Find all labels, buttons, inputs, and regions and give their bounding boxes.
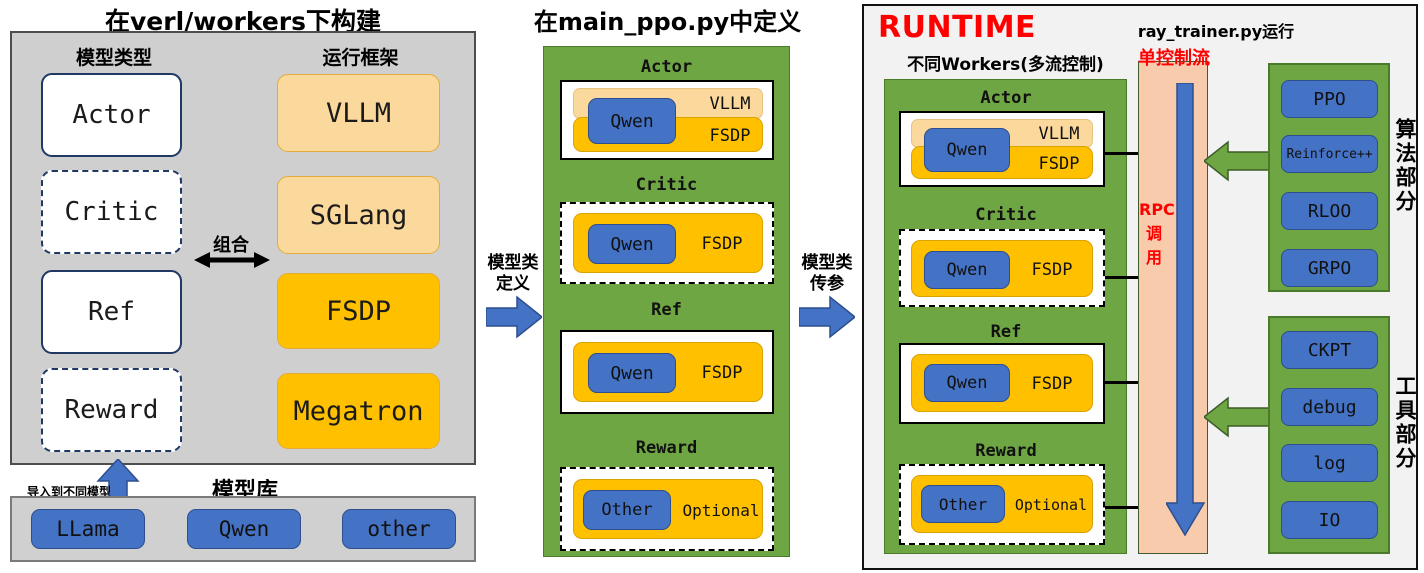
tools-to-controlflow-arrow-icon bbox=[1204, 396, 1272, 438]
model-type-ref[interactable]: Ref bbox=[41, 270, 182, 354]
middle-panel-title: 在main_ppo.py中定义 bbox=[510, 2, 825, 37]
middle-role-label-reward: Reward bbox=[552, 438, 781, 458]
runtime-ref-fsdp-label: FSDP bbox=[1020, 374, 1084, 394]
middle-role-label-actor: Actor bbox=[552, 57, 781, 77]
rpc-label-line2: 调用 bbox=[1139, 220, 1169, 268]
middle-reward-model-chip[interactable]: Other bbox=[583, 490, 671, 530]
algorithm-chip-ppo[interactable]: PPO bbox=[1281, 80, 1378, 118]
middle-actor-fsdp-label: FSDP bbox=[700, 126, 760, 146]
middle-role-label-ref: Ref bbox=[552, 300, 781, 320]
middle-actor-model-chip[interactable]: Qwen bbox=[588, 98, 676, 144]
runtime-actor-vllm-label: VLLM bbox=[1030, 124, 1088, 144]
runtime-role-label-reward: Reward bbox=[893, 441, 1119, 461]
arrow2-right-icon bbox=[799, 295, 855, 339]
middle-reward-optional-label: Optional bbox=[678, 501, 764, 520]
combine-double-arrow-icon bbox=[194, 249, 270, 271]
runtime-critic-fsdp-label: FSDP bbox=[1020, 260, 1084, 280]
middle-ref-model-chip[interactable]: Qwen bbox=[588, 353, 676, 393]
tool-chip-io[interactable]: IO bbox=[1281, 501, 1378, 539]
column-header-model-type: 模型类型 bbox=[24, 43, 204, 69]
control-flow-label: 单控制流 bbox=[1136, 44, 1212, 70]
runtime-ref-model-chip[interactable]: Qwen bbox=[924, 364, 1010, 402]
tool-chip-debug[interactable]: debug bbox=[1281, 388, 1378, 426]
runtime-actor-model-chip[interactable]: Qwen bbox=[924, 128, 1010, 172]
workers-label: 不同Workers(多流控制) bbox=[884, 50, 1127, 75]
library-chip-llama[interactable]: LLama bbox=[31, 509, 145, 549]
runtime-title: RUNTIME bbox=[878, 10, 1036, 45]
tool-chip-ckpt[interactable]: CKPT bbox=[1281, 331, 1378, 369]
runtime-role-label-ref: Ref bbox=[893, 322, 1119, 342]
middle-actor-vllm-label: VLLM bbox=[700, 94, 760, 114]
algorithms-to-controlflow-arrow-icon bbox=[1204, 140, 1272, 182]
model-type-critic[interactable]: Critic bbox=[41, 170, 182, 254]
library-chip-other[interactable]: other bbox=[342, 509, 456, 549]
middle-critic-fsdp-label: FSDP bbox=[690, 234, 754, 254]
algorithms-side-label: 算法部分 bbox=[1394, 118, 1415, 238]
runtime-actor-fsdp-label: FSDP bbox=[1030, 154, 1088, 174]
rpc-label-line1: RPC bbox=[1139, 200, 1169, 219]
framework-vllm[interactable]: VLLM bbox=[277, 74, 440, 152]
algorithm-chip-rloo[interactable]: RLOO bbox=[1281, 192, 1378, 230]
runtime-critic-model-chip[interactable]: Qwen bbox=[924, 251, 1010, 289]
arrow1-label-line2: 定义 bbox=[482, 270, 544, 292]
ray-trainer-label: ray_trainer.py运行 bbox=[1106, 18, 1326, 42]
arrow1-right-icon bbox=[486, 295, 542, 339]
runtime-reward-optional-label: Optional bbox=[1009, 496, 1093, 514]
runtime-role-label-actor: Actor bbox=[893, 88, 1119, 108]
middle-role-label-critic: Critic bbox=[552, 175, 781, 195]
middle-critic-model-chip[interactable]: Qwen bbox=[588, 224, 676, 264]
algorithm-chip-reinforce-pp[interactable]: Reinforce++ bbox=[1281, 135, 1378, 173]
framework-megatron[interactable]: Megatron bbox=[277, 373, 440, 449]
framework-fsdp[interactable]: FSDP bbox=[277, 273, 440, 349]
framework-sglang[interactable]: SGLang bbox=[277, 176, 440, 254]
tool-chip-log[interactable]: log bbox=[1281, 444, 1378, 482]
algorithm-chip-grpo[interactable]: GRPO bbox=[1281, 249, 1378, 287]
model-type-reward[interactable]: Reward bbox=[41, 368, 182, 452]
column-header-runtime-framework: 运行框架 bbox=[268, 43, 453, 69]
model-type-actor[interactable]: Actor bbox=[41, 73, 182, 157]
middle-ref-fsdp-label: FSDP bbox=[690, 363, 754, 383]
arrow2-label-line2: 传参 bbox=[795, 270, 859, 292]
tools-side-label: 工具部分 bbox=[1394, 375, 1415, 495]
library-chip-qwen[interactable]: Qwen bbox=[187, 509, 301, 549]
runtime-reward-model-chip[interactable]: Other bbox=[921, 485, 1005, 523]
runtime-role-label-critic: Critic bbox=[893, 205, 1119, 225]
